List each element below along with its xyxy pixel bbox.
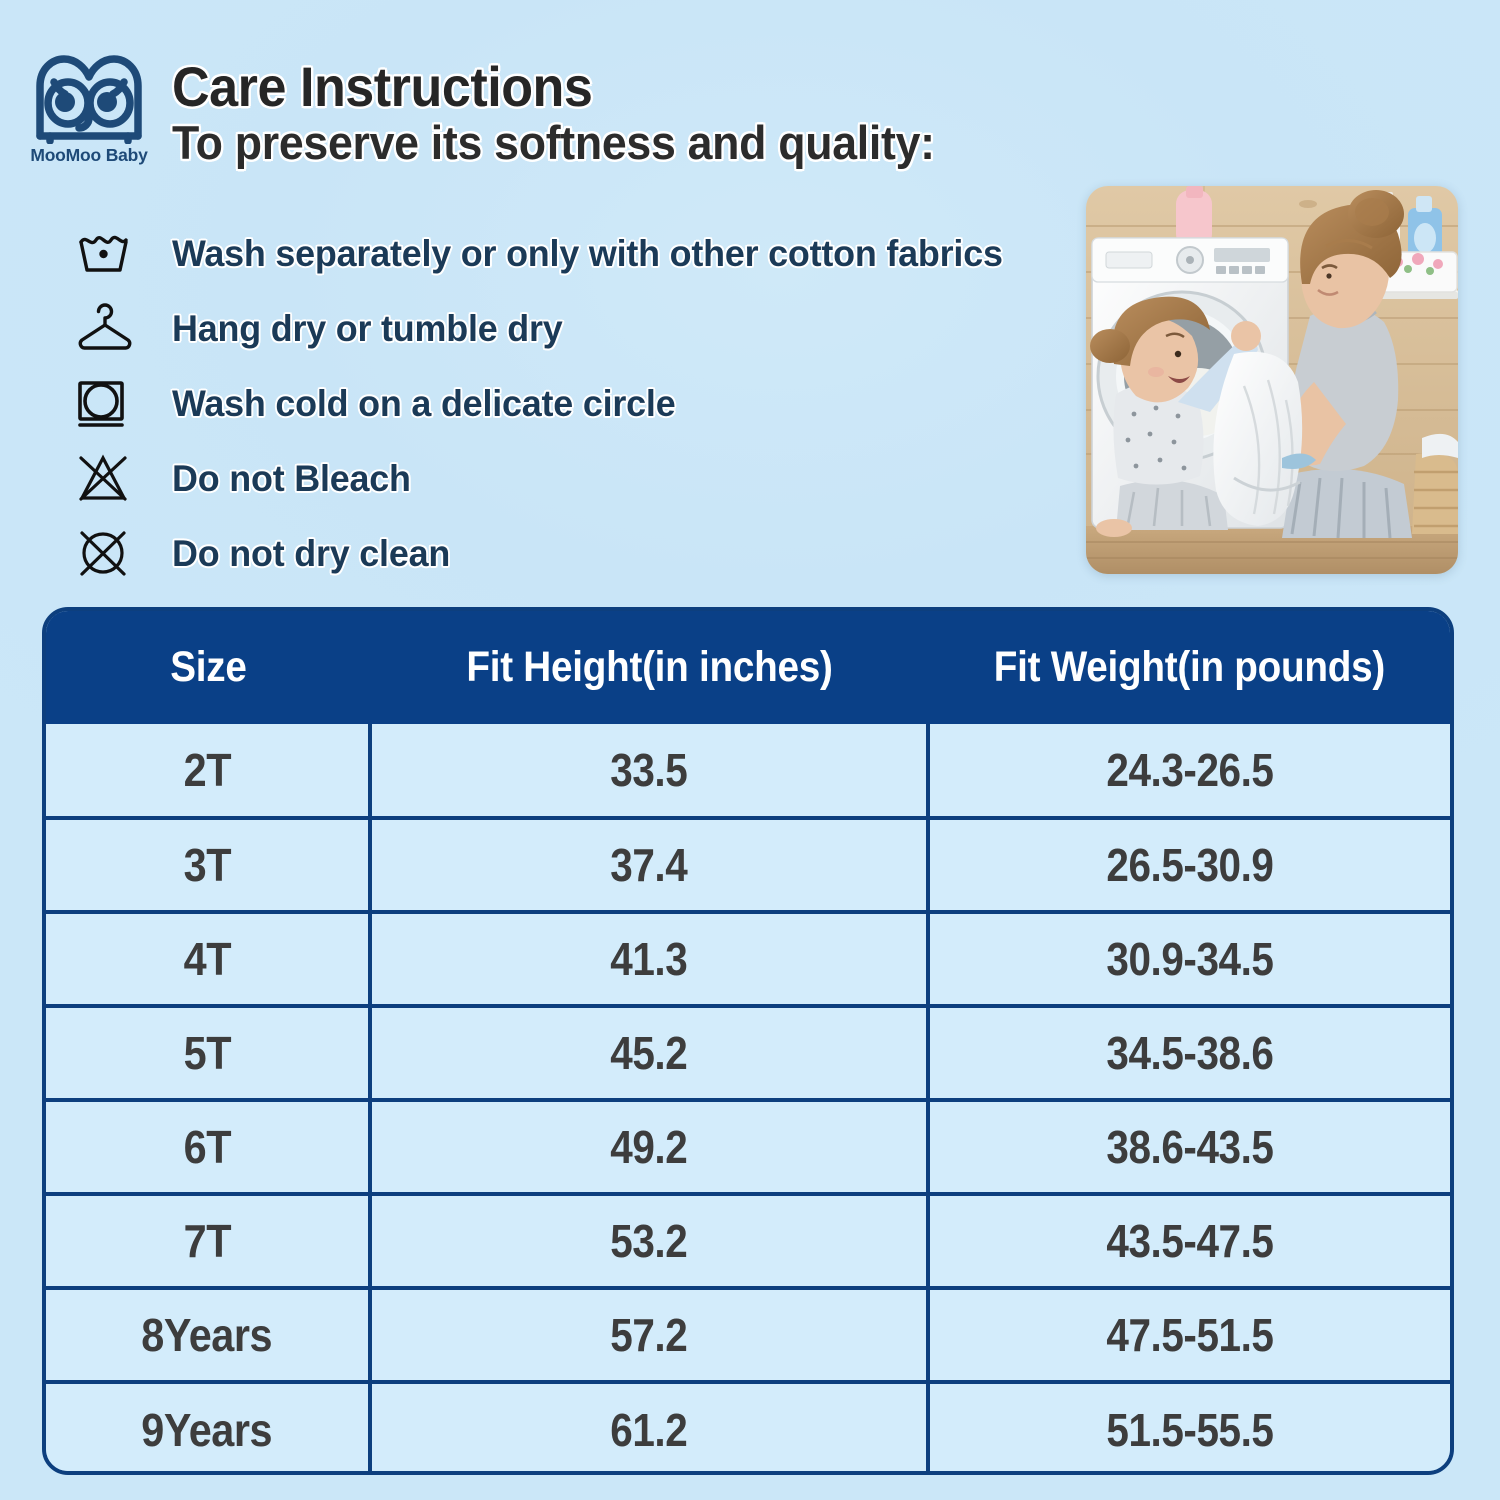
cell-size: 8Years	[46, 1288, 370, 1382]
table-row: 5T 45.2 34.5-38.6	[46, 1006, 1450, 1100]
cell-weight: 51.5-55.5	[928, 1382, 1450, 1475]
cell-size: 7T	[46, 1194, 370, 1288]
column-header-fit-height: Fit Height(in inches)	[370, 611, 928, 724]
cell-height: 37.4	[370, 818, 928, 912]
cell-size: 2T	[46, 724, 370, 818]
table-row: 8Years 57.2 47.5-51.5	[46, 1288, 1450, 1382]
cell-height: 45.2	[370, 1006, 928, 1100]
size-chart-table: Size Fit Height(in inches) Fit Weight(in…	[42, 607, 1454, 1475]
no-dry-clean-icon	[72, 526, 138, 582]
title-block: Care Instructions To preserve its softne…	[172, 58, 975, 168]
care-row: Do not dry clean	[0, 516, 1075, 591]
owl-icon	[30, 52, 148, 144]
cell-height: 57.2	[370, 1288, 928, 1382]
hanger-icon	[72, 301, 138, 357]
tumble-dry-icon	[72, 376, 138, 432]
brand-name: MooMoo Baby	[24, 145, 154, 166]
cell-size: 5T	[46, 1006, 370, 1100]
table-header-row: Size Fit Height(in inches) Fit Weight(in…	[46, 611, 1450, 724]
care-row: Wash separately or only with other cotto…	[0, 216, 1075, 291]
cell-weight: 26.5-30.9	[928, 818, 1450, 912]
cell-height: 53.2	[370, 1194, 928, 1288]
column-header-size: Size	[46, 611, 370, 724]
brand-logo: MooMoo Baby	[24, 52, 154, 172]
care-instructions-list: Wash separately or only with other cotto…	[0, 216, 1075, 591]
page-subtitle: To preserve its softness and quality:	[172, 118, 935, 168]
cell-size: 6T	[46, 1100, 370, 1194]
cell-weight: 43.5-47.5	[928, 1194, 1450, 1288]
care-instructions-page: MooMoo Baby Care Instructions To preserv…	[0, 0, 1500, 1500]
cell-size: 9Years	[46, 1382, 370, 1475]
care-row: Do not Bleach	[0, 441, 1075, 516]
table-row: 3T 37.4 26.5-30.9	[46, 818, 1450, 912]
table-row: 9Years 61.2 51.5-55.5	[46, 1382, 1450, 1475]
cell-weight: 24.3-26.5	[928, 724, 1450, 818]
table-body: 2T 33.5 24.3-26.5 3T 37.4 26.5-30.9 4T 4…	[46, 724, 1450, 1475]
care-label: Do not dry clean	[172, 533, 450, 575]
table-row: 7T 53.2 43.5-47.5	[46, 1194, 1450, 1288]
cell-size: 4T	[46, 912, 370, 1006]
cell-weight: 30.9-34.5	[928, 912, 1450, 1006]
care-label: Wash cold on a delicate circle	[172, 383, 675, 425]
mother-and-child-laundry-photo	[1086, 186, 1458, 574]
care-row: Wash cold on a delicate circle	[0, 366, 1075, 441]
cell-weight: 34.5-38.6	[928, 1006, 1450, 1100]
cell-height: 49.2	[370, 1100, 928, 1194]
care-row: Hang dry or tumble dry	[0, 291, 1075, 366]
care-label: Hang dry or tumble dry	[172, 308, 563, 350]
cell-height: 33.5	[370, 724, 928, 818]
cell-weight: 38.6-43.5	[928, 1100, 1450, 1194]
wash-tub-icon	[72, 226, 138, 282]
table-row: 4T 41.3 30.9-34.5	[46, 912, 1450, 1006]
table-row: 2T 33.5 24.3-26.5	[46, 724, 1450, 818]
care-label: Do not Bleach	[172, 458, 411, 500]
care-label: Wash separately or only with other cotto…	[172, 233, 1003, 275]
page-header: MooMoo Baby Care Instructions To preserv…	[0, 0, 1500, 200]
page-title: Care Instructions	[172, 58, 919, 116]
no-bleach-icon	[72, 451, 138, 507]
column-header-fit-weight: Fit Weight(in pounds)	[928, 611, 1450, 724]
table-row: 6T 49.2 38.6-43.5	[46, 1100, 1450, 1194]
cell-weight: 47.5-51.5	[928, 1288, 1450, 1382]
cell-height: 41.3	[370, 912, 928, 1006]
cell-height: 61.2	[370, 1382, 928, 1475]
cell-size: 3T	[46, 818, 370, 912]
